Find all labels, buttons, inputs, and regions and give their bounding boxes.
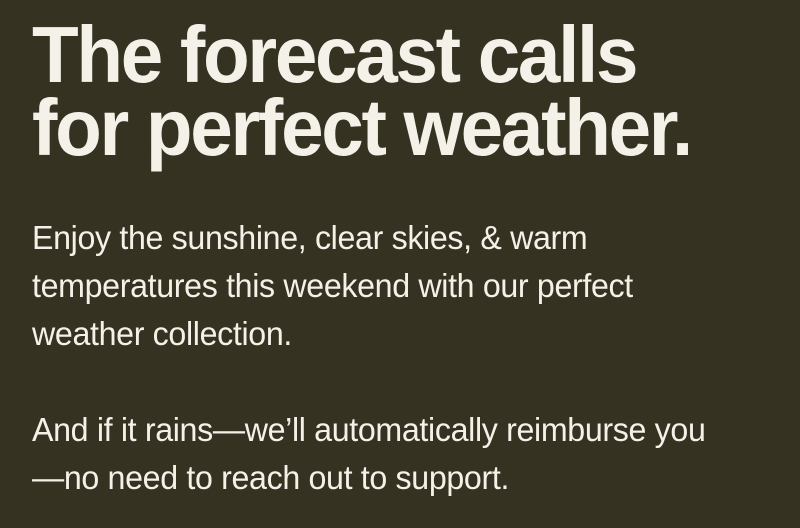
- promo-paragraph-2: And if it rains—we’ll automatically reim…: [32, 406, 715, 502]
- promo-paragraph-1: Enjoy the sunshine, clear skies, & warm …: [32, 214, 715, 358]
- promo-banner: The forecast calls for perfect weather. …: [0, 0, 800, 528]
- page-title: The forecast calls for perfect weather.: [32, 0, 735, 164]
- promo-body-copy: Enjoy the sunshine, clear skies, & warm …: [32, 164, 732, 502]
